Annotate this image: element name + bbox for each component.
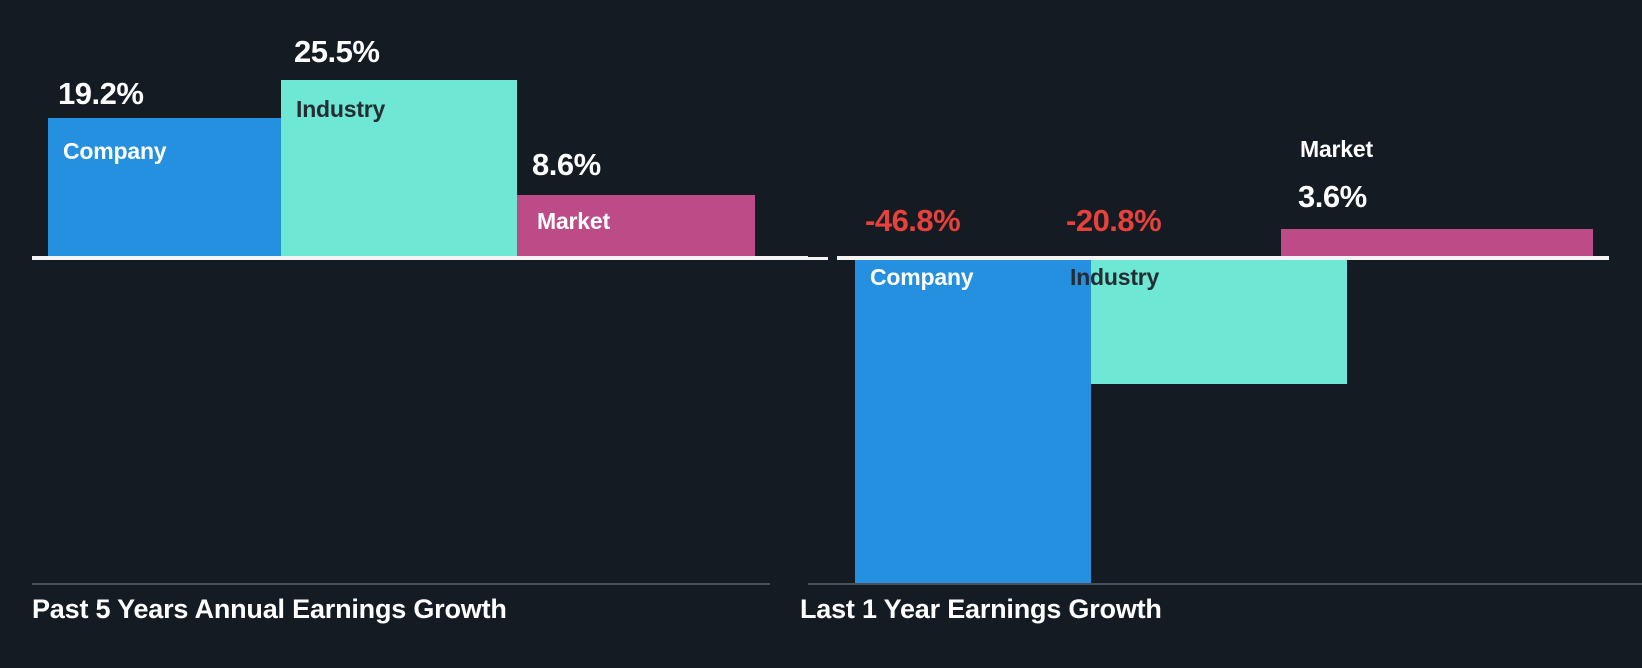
value-label-market-past-5-years: 8.6% [532,147,601,183]
past-5-years-chart-panel: Company 19.2% Industry 25.5% Market 8.6%… [0,0,808,668]
value-label-market-last-1-year: 3.6% [1298,179,1367,215]
chart-title-last-1-year: Last 1 Year Earnings Growth [800,594,1162,625]
earnings-growth-chart-figure: Company 19.2% Industry 25.5% Market 8.6%… [0,0,1642,668]
value-label-industry-past-5-years: 25.5% [294,34,379,70]
bar-market-last-1-year[interactable] [1281,229,1593,256]
bar-label-company-last-1-year: Company [870,264,973,291]
axis-stub-last-1-year [808,257,828,260]
bar-label-industry-last-1-year: Industry [1070,264,1159,291]
bar-label-market-past-5-years: Market [537,208,610,235]
zero-baseline-last-1-year [837,256,1609,260]
footer-divider-past-5-years [32,583,770,585]
value-label-company-last-1-year: -46.8% [865,203,960,239]
bar-company-last-1-year[interactable] [855,260,1091,583]
footer-divider-last-1-year [808,583,1642,585]
value-label-industry-last-1-year: -20.8% [1066,203,1161,239]
last-1-year-chart-panel: Company -46.8% Industry -20.8% Market 3.… [808,0,1642,668]
zero-baseline-past-5-years [32,256,808,260]
chart-title-past-5-years: Past 5 Years Annual Earnings Growth [32,594,507,625]
bar-label-company-past-5-years: Company [63,138,166,165]
bar-label-industry-past-5-years: Industry [296,96,385,123]
bar-label-market-last-1-year: Market [1300,136,1373,163]
value-label-company-past-5-years: 19.2% [58,76,143,112]
